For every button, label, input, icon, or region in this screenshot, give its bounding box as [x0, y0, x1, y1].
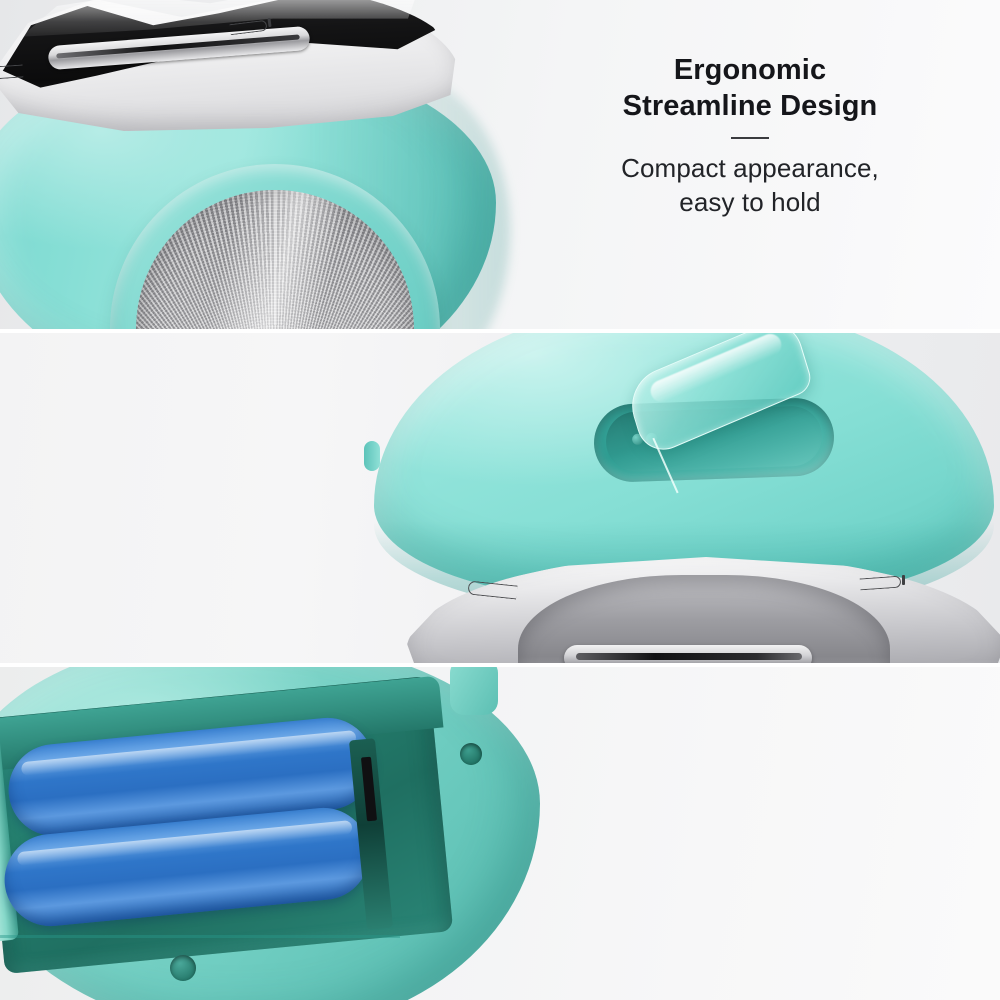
panel-subtext-line2: easy to hold: [560, 185, 940, 219]
chrome-top-cap: [0, 0, 460, 141]
screw-hole-upper: [460, 743, 482, 765]
panel-debris-container: Nail Debris Container Prevent nail piece…: [0, 333, 1000, 663]
product-infographic: Ergonomic Streamline Design Compact appe…: [0, 0, 1000, 1000]
panel-heading-line1: Ergonomic: [560, 52, 940, 88]
base-molding-mark-right-tip: [902, 575, 905, 585]
panel-subtext-line1: Compact appearance,: [560, 151, 940, 185]
panel-ergonomic-text: Ergonomic Streamline Design Compact appe…: [560, 52, 940, 219]
heading-divider: [731, 137, 769, 139]
panel-heading-line2: Streamline Design: [560, 88, 940, 124]
blade-slot: [576, 653, 802, 660]
product-photo-ergonomic: [0, 0, 600, 329]
shell-seam: [0, 935, 400, 1000]
panel-ergonomic: Ergonomic Streamline Design Compact appe…: [0, 0, 1000, 329]
shell-tab: [450, 667, 498, 715]
panel-battery: AAA Battery Powered No constant charging…: [0, 667, 1000, 1000]
product-photo-battery: [0, 667, 580, 1000]
product-photo-debris-container: [360, 333, 1000, 663]
side-button: [364, 441, 380, 471]
